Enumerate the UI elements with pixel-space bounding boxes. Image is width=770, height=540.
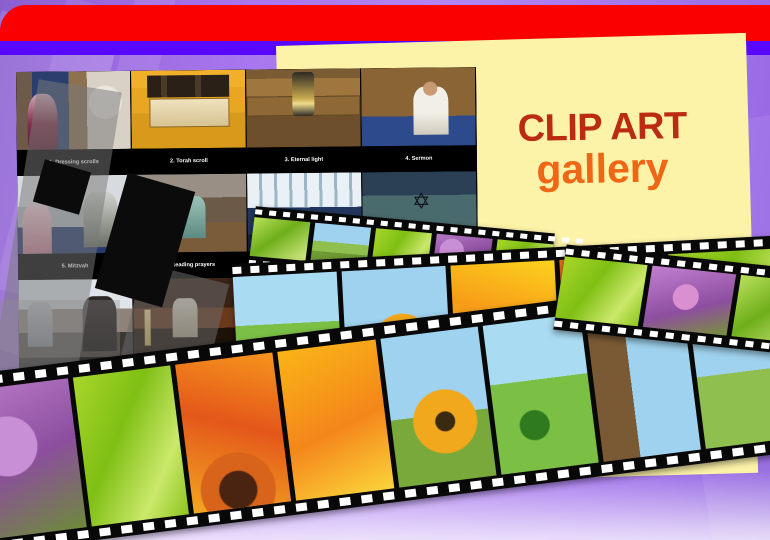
- filmstrip-frame[interactable]: [0, 378, 87, 539]
- perforation-hole: [250, 266, 259, 273]
- perforation-hole: [515, 308, 527, 317]
- perforation-hole: [358, 260, 367, 267]
- perforation-hole: [570, 322, 579, 329]
- perforation-hole: [164, 518, 176, 527]
- perforation-hole: [232, 267, 241, 274]
- perforation-hole: [645, 256, 654, 263]
- perforation-hole: [464, 228, 472, 234]
- perforation-hole: [253, 341, 265, 350]
- perforation-hole: [428, 319, 440, 328]
- filmstrip-frame[interactable]: [250, 217, 311, 261]
- poster-title: CLIP ART gallery: [517, 106, 748, 192]
- perforation-hole: [754, 444, 766, 453]
- perforation-hole: [576, 238, 584, 244]
- perforation-hole: [35, 369, 47, 378]
- perforation-hole: [275, 338, 287, 347]
- perforation-hole: [208, 513, 220, 522]
- perforation-hole: [677, 260, 686, 267]
- perforation-hole: [697, 335, 706, 342]
- perforation-hole: [405, 488, 417, 497]
- perforation-hole: [209, 346, 221, 355]
- perforation-hole: [353, 218, 361, 224]
- perforation-hole: [384, 324, 396, 333]
- title-line-gallery: gallery: [536, 144, 749, 192]
- perforation-hole: [297, 213, 305, 219]
- perforation-hole: [645, 458, 657, 467]
- filmstrip-frame[interactable]: [482, 314, 598, 475]
- perforation-hole: [361, 494, 373, 503]
- perforation-hole: [725, 265, 734, 272]
- perforation-hole: [186, 516, 198, 525]
- perforation-hole: [13, 371, 25, 380]
- perforation-hole: [688, 452, 700, 461]
- perforation-hole: [586, 323, 595, 330]
- perforation-hole: [436, 226, 444, 232]
- perforation-hole: [230, 510, 242, 519]
- filmstrip-frame[interactable]: [643, 266, 736, 336]
- perforation-hole: [556, 250, 565, 257]
- perforation-hole: [366, 219, 374, 225]
- perforation-hole: [554, 320, 563, 327]
- perforation-hole: [406, 322, 418, 331]
- perforation-hole: [121, 524, 133, 533]
- perforation-hole: [665, 332, 674, 339]
- perforation-hole: [380, 221, 388, 227]
- perforation-hole: [597, 251, 606, 258]
- perforation-hole: [629, 255, 638, 262]
- perforation-hole: [322, 262, 331, 269]
- perforation-hole: [166, 352, 178, 361]
- perforation-hole: [122, 358, 134, 367]
- perforation-hole: [732, 447, 744, 456]
- filmstrip-frame[interactable]: [731, 275, 770, 345]
- perforation-hole: [741, 266, 750, 273]
- thumbnail-photo: [131, 70, 246, 149]
- perforation-hole: [318, 333, 330, 342]
- perforation-hole: [718, 241, 727, 248]
- perforation-hole: [681, 333, 690, 340]
- thumbnail-caption: 3. Eternal light: [247, 146, 361, 173]
- perforation-hole: [286, 264, 295, 271]
- perforation-hole: [297, 335, 309, 344]
- perforation-hole: [77, 529, 89, 538]
- perforation-hole: [736, 240, 745, 247]
- filmstrip-frame[interactable]: [175, 352, 291, 513]
- perforation-hole: [187, 349, 199, 358]
- perforation-hole: [283, 212, 291, 218]
- title-line-clip-art: CLIP ART: [517, 106, 748, 148]
- perforation-hole: [448, 483, 460, 492]
- perforation-hole: [100, 360, 112, 369]
- perforation-hole: [492, 231, 500, 237]
- perforation-hole: [143, 521, 155, 530]
- clip-art-thumbnail[interactable]: 2. Torah scroll: [131, 70, 247, 175]
- perforation-hole: [340, 261, 349, 268]
- perforation-hole: [394, 222, 402, 228]
- clip-art-gallery-poster: 1. Dressing scrolls2. Torah scroll3. Ete…: [0, 0, 770, 540]
- perforation-hole: [56, 366, 68, 375]
- perforation-hole: [394, 258, 403, 265]
- perforation-hole: [252, 507, 264, 516]
- perforation-hole: [536, 472, 548, 481]
- perforation-hole: [729, 339, 738, 346]
- star-of-david-icon: ✡: [410, 190, 432, 212]
- photo-art: [246, 68, 361, 147]
- perforation-hole: [709, 263, 718, 270]
- perforation-hole: [99, 527, 111, 536]
- perforation-hole: [664, 244, 673, 251]
- perforation-hole: [339, 496, 351, 505]
- perforation-hole: [633, 328, 642, 335]
- perforation-hole: [478, 230, 486, 236]
- perforation-hole: [466, 254, 475, 261]
- perforation-hole: [538, 251, 547, 258]
- perforation-hole: [548, 236, 556, 242]
- perforation-hole: [761, 342, 770, 349]
- perforation-hole: [623, 461, 635, 470]
- perforation-hole: [362, 327, 374, 336]
- perforation-hole: [412, 257, 421, 264]
- perforation-hole: [470, 480, 482, 489]
- perforation-hole: [602, 325, 611, 332]
- perforation-hole: [304, 263, 313, 270]
- perforation-hole: [754, 239, 763, 246]
- perforation-hole: [484, 253, 493, 260]
- perforation-hole: [317, 499, 329, 508]
- filmstrip-frame[interactable]: [555, 256, 648, 326]
- perforation-hole: [274, 505, 286, 514]
- perforation-hole: [713, 337, 722, 344]
- perforation-hole: [430, 256, 439, 263]
- clip-art-thumbnail[interactable]: 3. Eternal light: [246, 68, 362, 173]
- thumbnail-caption: 4. Sermon: [362, 145, 476, 172]
- perforation-hole: [268, 265, 277, 272]
- perforation-hole: [700, 242, 709, 249]
- perforation-hole: [520, 252, 529, 259]
- perforation-hole: [649, 330, 658, 337]
- filmstrip-frame[interactable]: [380, 327, 496, 488]
- perforation-hole: [537, 305, 549, 314]
- perforation-hole: [661, 258, 670, 265]
- perforation-hole: [422, 224, 430, 230]
- perforation-hole: [520, 233, 528, 239]
- perforation-hole: [426, 485, 438, 494]
- perforation-hole: [534, 235, 542, 241]
- perforation-hole: [756, 268, 765, 275]
- perforation-hole: [450, 227, 458, 233]
- clip-art-thumbnail[interactable]: 4. Sermon: [361, 67, 477, 172]
- thumbnail-photo: [361, 67, 476, 146]
- perforation-hole: [693, 261, 702, 268]
- perforation-hole: [682, 243, 691, 250]
- perforation-hole: [493, 311, 505, 320]
- perforation-hole: [666, 455, 678, 464]
- perforation-hole: [471, 313, 483, 322]
- perforation-hole: [55, 532, 67, 540]
- thumbnail-photo: [246, 68, 361, 147]
- perforation-hole: [449, 316, 461, 325]
- perforation-hole: [502, 252, 511, 259]
- perforation-hole: [295, 502, 307, 511]
- perforation-hole: [340, 330, 352, 339]
- perforation-hole: [506, 232, 514, 238]
- perforation-hole: [408, 223, 416, 229]
- perforation-hole: [579, 466, 591, 475]
- perforation-hole: [0, 374, 3, 383]
- perforation-hole: [376, 259, 385, 266]
- perforation-hole: [514, 474, 526, 483]
- perforation-hole: [492, 477, 504, 486]
- perforation-hole: [448, 255, 457, 262]
- perforation-hole: [311, 214, 319, 220]
- perforation-hole: [325, 216, 333, 222]
- perforation-hole: [269, 210, 277, 216]
- thumbnail-caption: 2. Torah scroll: [132, 148, 246, 175]
- perforation-hole: [613, 253, 622, 260]
- perforation-hole: [565, 248, 574, 255]
- perforation-hole: [231, 344, 243, 353]
- perforation-hole: [745, 340, 754, 347]
- perforation-hole: [618, 327, 627, 334]
- perforation-hole: [646, 245, 655, 252]
- perforation-hole: [255, 209, 263, 215]
- perforation-hole: [581, 250, 590, 257]
- perforation-hole: [557, 469, 569, 478]
- perforation-hole: [339, 217, 347, 223]
- photo-art: [361, 67, 476, 146]
- perforation-hole: [383, 491, 395, 500]
- photo-art: [131, 70, 246, 149]
- perforation-hole: [710, 450, 722, 459]
- perforation-hole: [562, 237, 570, 243]
- filmstrip-frame[interactable]: [73, 365, 189, 526]
- perforation-hole: [33, 535, 45, 540]
- perforation-hole: [601, 463, 613, 472]
- perforation-hole: [78, 363, 90, 372]
- perforation-hole: [144, 355, 156, 364]
- filmstrip-frame[interactable]: [278, 340, 394, 501]
